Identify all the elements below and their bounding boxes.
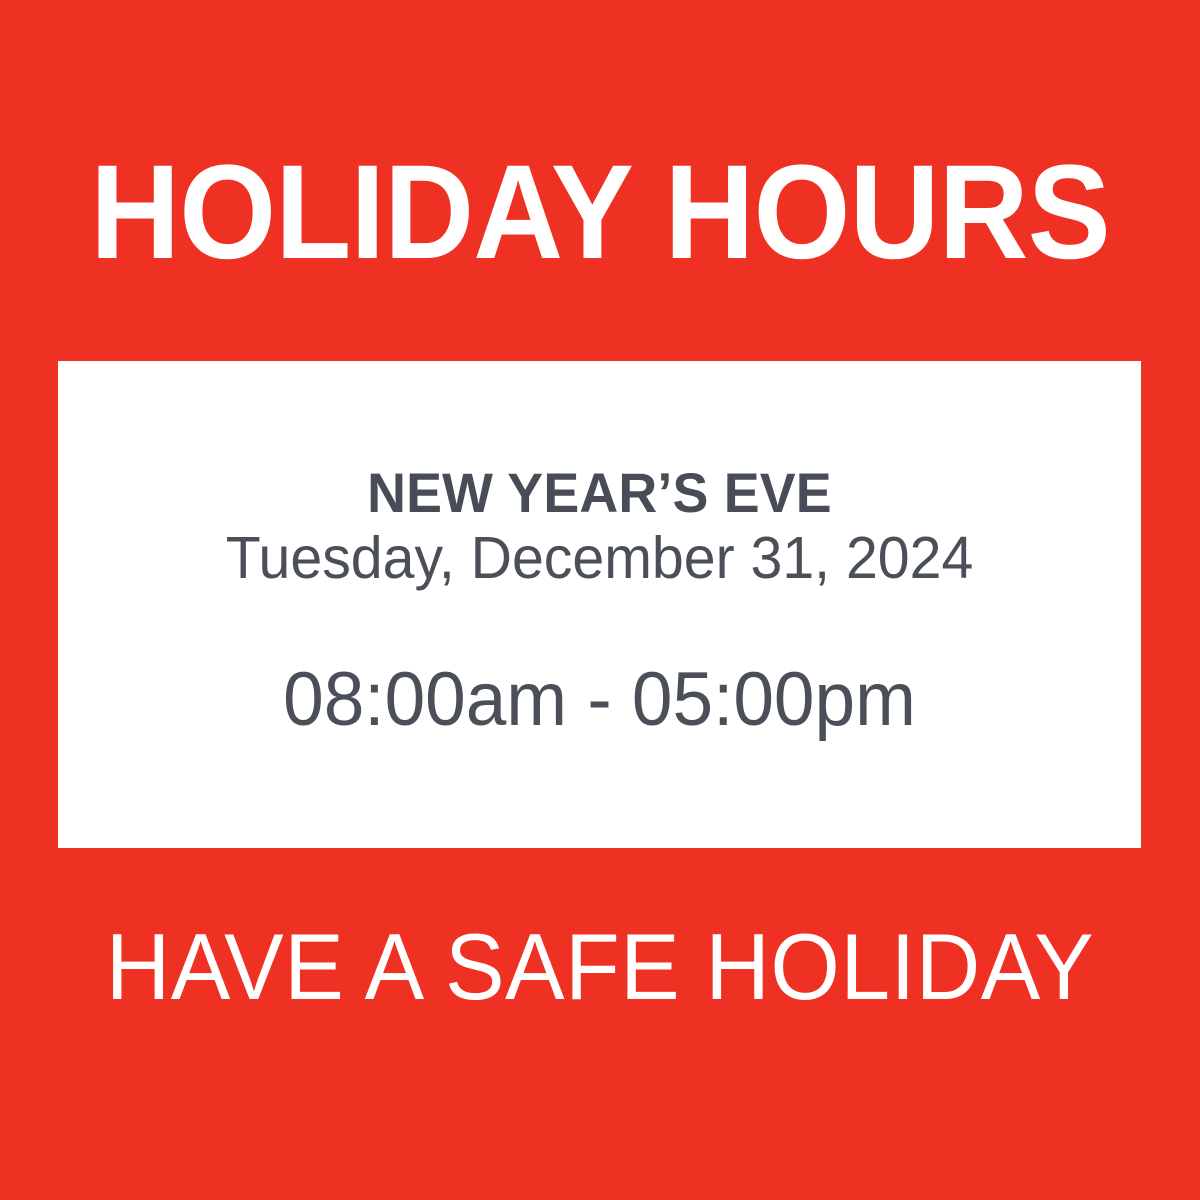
holiday-name: NEW YEAR’S EVE	[80, 462, 1120, 525]
footer-message: HAVE A SAFE HOLIDAY	[30, 920, 1170, 1014]
holiday-info-card: NEW YEAR’S EVE Tuesday, December 31, 202…	[58, 361, 1141, 848]
holiday-date: Tuesday, December 31, 2024	[74, 524, 1125, 594]
holiday-hours-sign: HOLIDAY HOURS NEW YEAR’S EVE Tuesday, De…	[0, 0, 1200, 1200]
page-title: HOLIDAY HOURS	[42, 146, 1158, 280]
holiday-info-card-content: NEW YEAR’S EVE Tuesday, December 31, 202…	[58, 462, 1141, 748]
holiday-hours-range: 08:00am - 05:00pm	[80, 658, 1120, 742]
